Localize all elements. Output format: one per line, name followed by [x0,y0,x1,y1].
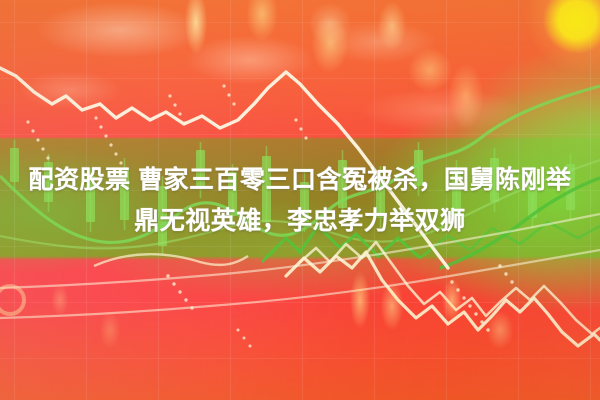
banner-image: 配资股票 曹家三百零三口含冤被杀，国舅陈刚举 鼎无视英雄，李忠孝力举双狮 [0,0,600,400]
banner-caption: 配资股票 曹家三百零三口含冤被杀，国舅陈刚举 鼎无视英雄，李忠孝力举双狮 [0,160,600,242]
caption-line-2: 鼎无视英雄，李忠孝力举双狮 [134,207,466,235]
caption-line-1: 配资股票 曹家三百零三口含冤被杀，国舅陈刚举 [29,166,572,194]
